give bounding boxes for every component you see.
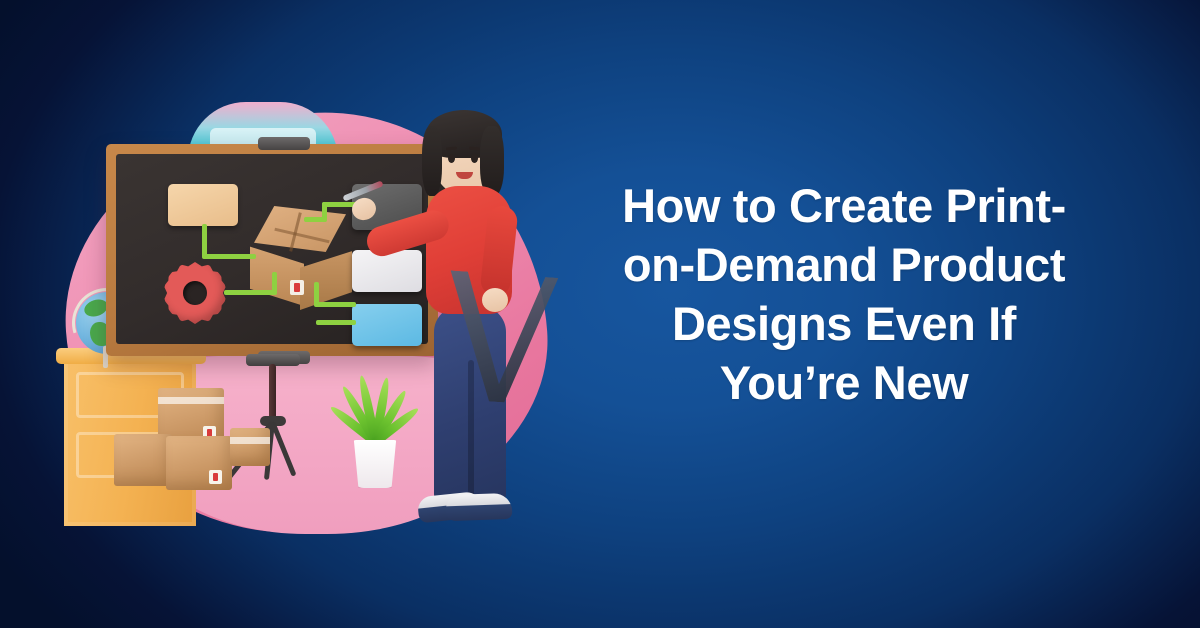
gear-hole [183,281,207,305]
package-face [114,434,172,486]
box-fragile-label [290,280,304,295]
diagram-gear [164,262,226,324]
hero-illustration [48,96,558,548]
banner-headline: How to Create Print- on-Demand Product D… [548,176,1140,412]
connector-line [224,290,276,295]
tripod-pole [269,364,276,422]
board-clip-top [258,137,310,150]
connector-line [272,272,277,295]
character-eye [448,154,455,163]
character-hand-left [482,288,508,312]
stacked-package [114,434,172,486]
character-eye [471,154,478,163]
package-tape [158,397,224,404]
box-right-face [300,246,352,310]
diagram-node-beige [168,184,238,226]
box-left-face [250,240,304,306]
connector-line [202,254,256,259]
connector-line [304,217,326,222]
blog-banner: How to Create Print- on-Demand Product D… [0,0,1200,628]
connector-line [202,224,207,258]
character-hair-side [422,126,442,196]
connector-line [316,320,356,325]
connector-line [314,302,356,307]
